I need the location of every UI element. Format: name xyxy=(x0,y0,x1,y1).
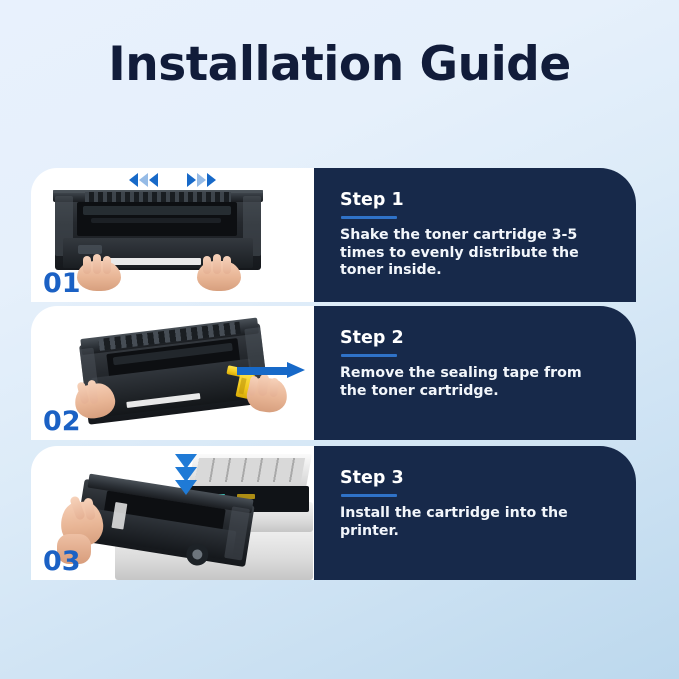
step-card-2: 02 Step 2 Remove the sealing tape from t… xyxy=(31,306,636,440)
step-3-panel: Step 3 Install the cartridge into the pr… xyxy=(314,446,636,580)
step-3-title: Step 3 xyxy=(340,468,616,489)
step-3-description: Install the cartridge into the printer. xyxy=(340,505,616,540)
step-2-title: Step 2 xyxy=(340,328,616,349)
step-1-photo: 01 xyxy=(31,168,314,302)
step-2-panel: Step 2 Remove the sealing tape from the … xyxy=(314,306,636,440)
step-1-description: Shake the toner cartridge 3-5 times to e… xyxy=(340,227,608,280)
step-number-02: 02 xyxy=(43,406,81,437)
insert-down-arrows-icon xyxy=(175,454,197,493)
page-title: Installation Guide xyxy=(0,36,679,94)
step-3-underline xyxy=(341,494,397,497)
step-card-1: 01 Step 1 Shake the toner cartridge 3-5 … xyxy=(31,168,636,302)
step-2-description: Remove the sealing tape from the toner c… xyxy=(340,365,608,400)
step-1-underline xyxy=(341,216,397,219)
shake-right-arrows-icon xyxy=(187,173,216,187)
step-number-03: 03 xyxy=(43,546,81,577)
installation-guide-page: Installation Guide xyxy=(0,0,679,679)
step-1-title: Step 1 xyxy=(340,190,616,211)
shake-left-arrows-icon xyxy=(129,173,158,187)
step-3-photo: 03 xyxy=(31,446,314,580)
step-2-photo: 02 xyxy=(31,306,314,440)
shake-arrows xyxy=(31,173,314,187)
step-2-underline xyxy=(341,354,397,357)
step-1-panel: Step 1 Shake the toner cartridge 3-5 tim… xyxy=(314,168,636,302)
pull-right-arrow-icon xyxy=(237,362,305,378)
step-number-01: 01 xyxy=(43,268,81,299)
step-card-3: 03 Step 3 Install the cartridge into the… xyxy=(31,446,636,580)
